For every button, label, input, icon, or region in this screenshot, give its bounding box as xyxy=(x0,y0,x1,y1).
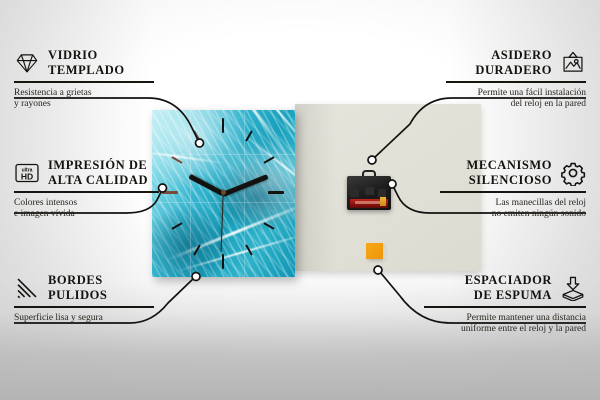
connector-dot-mecanismo xyxy=(388,180,396,188)
feature-description: Colores intensos e imagen vívida xyxy=(14,198,159,221)
polished-edges-icon xyxy=(14,275,40,301)
feature-divider xyxy=(14,191,159,193)
feature-title: IMPRESIÓN DE ALTA CALIDAD xyxy=(48,158,148,187)
feature-title: VIDRIO TEMPLADO xyxy=(48,48,125,77)
feature-header: ASIDERO DURADERO xyxy=(446,48,586,77)
feature-divider xyxy=(440,191,586,193)
feature-description: Superficie lisa y segura xyxy=(14,313,154,325)
feature-header: BORDES PULIDOS xyxy=(14,273,154,302)
feature-description: Permite mantener una distancia uniforme … xyxy=(424,313,586,336)
feature-title: BORDES PULIDOS xyxy=(48,273,107,302)
feature-description: Las manecillas del reloj no emiten ningú… xyxy=(440,198,586,221)
diamond-icon xyxy=(14,50,40,76)
connector-dot-impresion xyxy=(159,184,167,192)
infographic-canvas: VIDRIO TEMPLADO Resistencia a grietas y … xyxy=(0,0,600,400)
feature-title: ASIDERO DURADERO xyxy=(475,48,552,77)
feature-vidrio-templado: VIDRIO TEMPLADO Resistencia a grietas y … xyxy=(14,48,154,111)
ultra-hd-icon: ultra HD xyxy=(14,160,40,186)
feature-divider xyxy=(446,81,586,83)
connector-dot-vidrio-templado xyxy=(196,139,204,147)
feature-header: ultra HD IMPRESIÓN DE ALTA CALIDAD xyxy=(14,158,159,187)
gear-icon xyxy=(560,160,586,186)
feature-title: MECANISMO SILENCIOSO xyxy=(466,158,552,187)
feature-mecanismo-silencioso: MECANISMO SILENCIOSO Las manecillas del … xyxy=(440,158,586,221)
connector-dot-espaciador xyxy=(374,266,382,274)
hanging-frame-icon xyxy=(560,50,586,76)
feature-divider xyxy=(14,306,154,308)
svg-text:HD: HD xyxy=(21,171,33,181)
feature-divider xyxy=(424,306,586,308)
feature-header: ESPACIADOR DE ESPUMA xyxy=(424,273,586,302)
feature-title: ESPACIADOR DE ESPUMA xyxy=(465,273,552,302)
connector-dot-asidero xyxy=(368,156,376,164)
feature-description: Permite una fácil instalación del reloj … xyxy=(446,88,586,111)
feature-description: Resistencia a grietas y rayones xyxy=(14,88,154,111)
connector-dot-bordes-pulidos xyxy=(192,273,200,281)
feature-impresion-alta-calidad: ultra HD IMPRESIÓN DE ALTA CALIDAD Color… xyxy=(14,158,159,221)
feature-asidero-duradero: ASIDERO DURADERO Permite una fácil insta… xyxy=(446,48,586,111)
foam-spacer-icon xyxy=(560,275,586,301)
feature-header: MECANISMO SILENCIOSO xyxy=(440,158,586,187)
feature-header: VIDRIO TEMPLADO xyxy=(14,48,154,77)
feature-divider xyxy=(14,81,154,83)
feature-bordes-pulidos: BORDES PULIDOS Superficie lisa y segura xyxy=(14,273,154,324)
feature-espaciador-de-espuma: ESPACIADOR DE ESPUMA Permite mantener un… xyxy=(424,273,586,336)
